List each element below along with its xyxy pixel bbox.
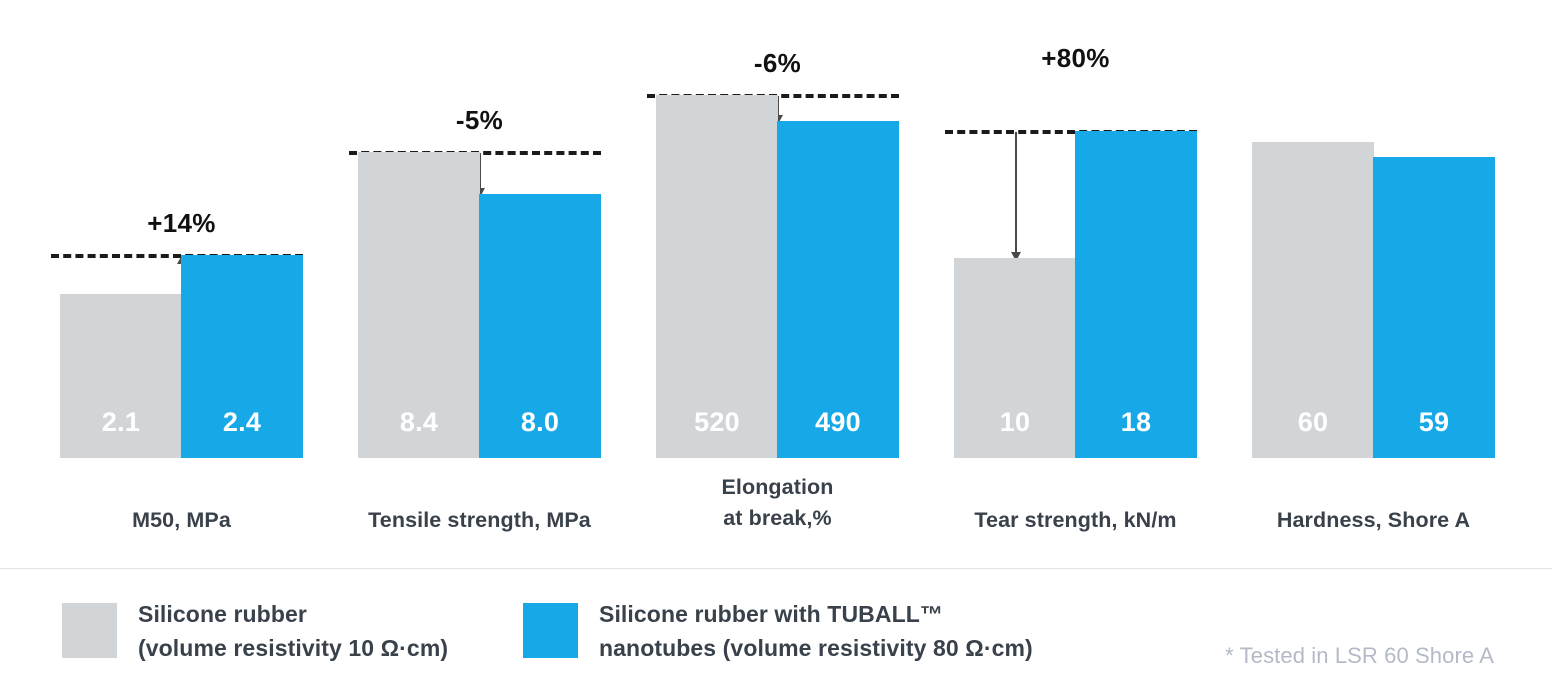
bar-silicone-rubber: 8.4 bbox=[358, 152, 480, 458]
category-label-line1: Tensile strength, MPa bbox=[368, 508, 591, 532]
bar-group-hardness: 60 59 Hardness, Shore A bbox=[1252, 0, 1495, 568]
footnote-text: * Tested in LSR 60 Shore A bbox=[1225, 643, 1494, 669]
category-label-tensile-strength: Tensile strength, MPa bbox=[318, 505, 641, 536]
delta-label: -6% bbox=[636, 48, 919, 79]
category-label-hardness: Hardness, Shore A bbox=[1212, 505, 1535, 536]
bar-value-label: 59 bbox=[1373, 407, 1495, 438]
bar-group-tensile-strength: -5% 8.4 8.0 Tensile strength, MPa bbox=[358, 0, 601, 568]
category-label-tear-strength: Tear strength, kN/m bbox=[914, 505, 1237, 536]
bar-silicone-rubber-tuball: 2.4 bbox=[181, 255, 303, 458]
bar-silicone-rubber-tuball: 490 bbox=[777, 121, 899, 458]
category-label-line1: Elongation bbox=[721, 475, 833, 499]
bar-silicone-rubber-tuball: 8.0 bbox=[479, 194, 601, 458]
legend-item-silicone-rubber: Silicone rubber (volume resistivity 10 Ω… bbox=[62, 598, 448, 666]
delta-label: +80% bbox=[934, 43, 1217, 74]
legend-label-silicone-rubber: Silicone rubber (volume resistivity 10 Ω… bbox=[138, 598, 448, 666]
bar-silicone-rubber: 2.1 bbox=[60, 294, 182, 458]
bar-silicone-rubber: 60 bbox=[1252, 142, 1374, 458]
delta-arrow-down-icon bbox=[1011, 132, 1021, 260]
legend-swatch-gray bbox=[62, 603, 117, 658]
legend-label-line1: Silicone rubber with TUBALL™ bbox=[599, 601, 943, 627]
legend-label-silicone-rubber-tuball: Silicone rubber with TUBALL™ nanotubes (… bbox=[599, 598, 1033, 666]
bar-value-label: 10 bbox=[954, 407, 1076, 438]
bar-value-label: 8.0 bbox=[479, 407, 601, 438]
bar-group-tear-strength: +80% 10 18 Tear strength, kN/m bbox=[954, 0, 1197, 568]
bar-value-label: 490 bbox=[777, 407, 899, 438]
category-label-line2: at break,% bbox=[723, 506, 832, 530]
legend-label-line2: (volume resistivity 10 Ω·cm) bbox=[138, 635, 448, 661]
category-label-line1: M50, MPa bbox=[132, 508, 231, 532]
legend-label-line1: Silicone rubber bbox=[138, 601, 307, 627]
bar-value-label: 18 bbox=[1075, 407, 1197, 438]
bar-silicone-rubber: 10 bbox=[954, 258, 1076, 458]
bar-value-label: 8.4 bbox=[358, 407, 480, 438]
legend-item-silicone-rubber-tuball: Silicone rubber with TUBALL™ nanotubes (… bbox=[523, 598, 1033, 666]
category-label-line1: Hardness, Shore A bbox=[1277, 508, 1470, 532]
bar-silicone-rubber: 520 bbox=[656, 95, 778, 458]
bar-value-label: 60 bbox=[1252, 407, 1374, 438]
category-label-elongation-at-break: Elongation at break,% bbox=[616, 472, 939, 533]
bar-group-m50: +14% 2.1 2.4 M50, MPa bbox=[60, 0, 303, 568]
delta-label: +14% bbox=[40, 208, 323, 239]
bar-silicone-rubber-tuball: 18 bbox=[1075, 131, 1197, 458]
chart-legend: Silicone rubber (volume resistivity 10 Ω… bbox=[0, 569, 1552, 696]
bar-value-label: 2.4 bbox=[181, 407, 303, 438]
category-label-m50: M50, MPa bbox=[20, 505, 343, 536]
category-label-line1: Tear strength, kN/m bbox=[974, 508, 1176, 532]
bar-chart: +14% 2.1 2.4 M50, MPa -5% 8.4 8.0 Tensil… bbox=[0, 0, 1552, 568]
delta-label: -5% bbox=[338, 105, 621, 136]
legend-label-line2: nanotubes (volume resistivity 80 Ω·cm) bbox=[599, 635, 1033, 661]
legend-swatch-blue bbox=[523, 603, 578, 658]
bar-value-label: 520 bbox=[656, 407, 778, 438]
bar-silicone-rubber-tuball: 59 bbox=[1373, 157, 1495, 458]
bar-value-label: 2.1 bbox=[60, 407, 182, 438]
bar-group-elongation-at-break: -6% 520 490 Elongation at break,% bbox=[656, 0, 899, 568]
